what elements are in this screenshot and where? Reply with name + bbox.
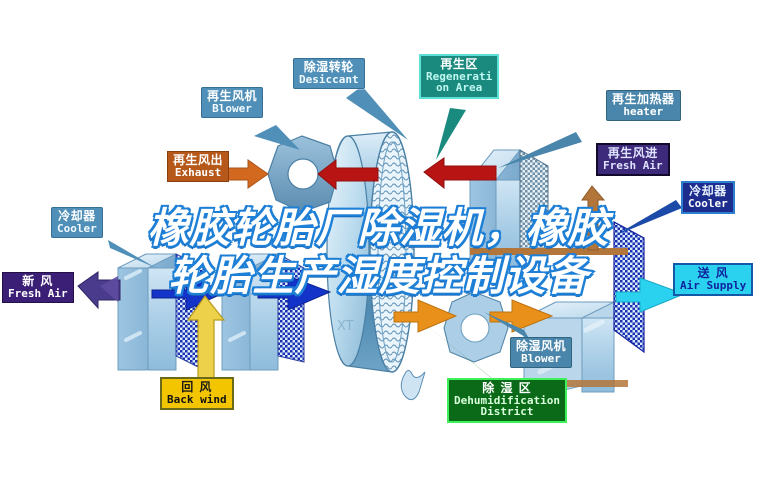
label-dehumidification-blower[interactable]: 除湿风机 Blower [510,337,572,368]
label-back-wind[interactable]: 回 风 Back wind [160,377,234,410]
label-en: Exhaust [173,167,223,179]
label-cn: 除湿转轮 [299,61,359,74]
diagram-canvas: XT [0,0,757,488]
fresh-air-arrow [78,272,120,308]
label-cn: 再生风机 [207,90,257,103]
label-en: Cooler [688,198,728,210]
label-en: Desiccant [299,74,359,86]
label-en: Air Supply [680,280,746,292]
label-cn: 再生区 [426,58,492,71]
dehumidification-blower [444,292,508,362]
label-desiccant-wheel[interactable]: 除湿转轮 Desiccant [293,58,365,89]
label-cn: 送 风 [680,267,746,280]
label-cooler-right[interactable]: 冷却器 Cooler [681,181,735,214]
label-regeneration-area[interactable]: 再生区 Regenerati on Area [419,54,499,99]
label-en: Back wind [167,394,227,406]
label-en: Blower [516,353,566,365]
label-cn: 冷却器 [57,210,97,223]
label-regeneration-heater[interactable]: 再生加热器 heater [606,90,681,121]
label-en: Fresh Air [8,288,68,300]
label-cn: 冷却器 [688,185,728,198]
label-cn: 除 湿 区 [454,382,560,395]
label-regeneration-exhaust[interactable]: 再生风出 Exhaust [167,151,229,182]
label-dehumidification-district[interactable]: 除 湿 区 Dehumidification District [447,378,567,423]
cooler-coil-left [118,254,204,370]
label-cn: 回 风 [167,381,227,394]
label-cn: 除湿风机 [516,340,566,353]
label-en: Fresh Air [603,160,663,172]
watermark: XT [337,319,354,334]
dehumidifier-schematic: XT [0,0,757,488]
label-en: heater [612,106,675,118]
wheel-media-sample [401,370,425,399]
label-regeneration-blower[interactable]: 再生风机 Blower [201,87,263,118]
label-en-line2: District [454,406,560,418]
label-en: Blower [207,103,257,115]
label-en: Cooler [57,223,97,235]
label-cn: 再生风进 [603,147,663,160]
label-en-line2: on Area [426,82,492,94]
label-cn: 新 风 [8,275,68,288]
label-air-supply[interactable]: 送 风 Air Supply [673,263,753,296]
label-cn: 再生风出 [173,154,223,167]
process-filter-block [222,254,304,370]
label-fresh-air[interactable]: 新 风 Fresh Air [2,272,74,303]
label-regeneration-fresh-air[interactable]: 再生风进 Fresh Air [596,143,670,176]
label-cooler-left[interactable]: 冷却器 Cooler [51,207,103,238]
regen-intake-arrow [582,186,604,250]
label-cn: 再生加热器 [612,93,675,106]
